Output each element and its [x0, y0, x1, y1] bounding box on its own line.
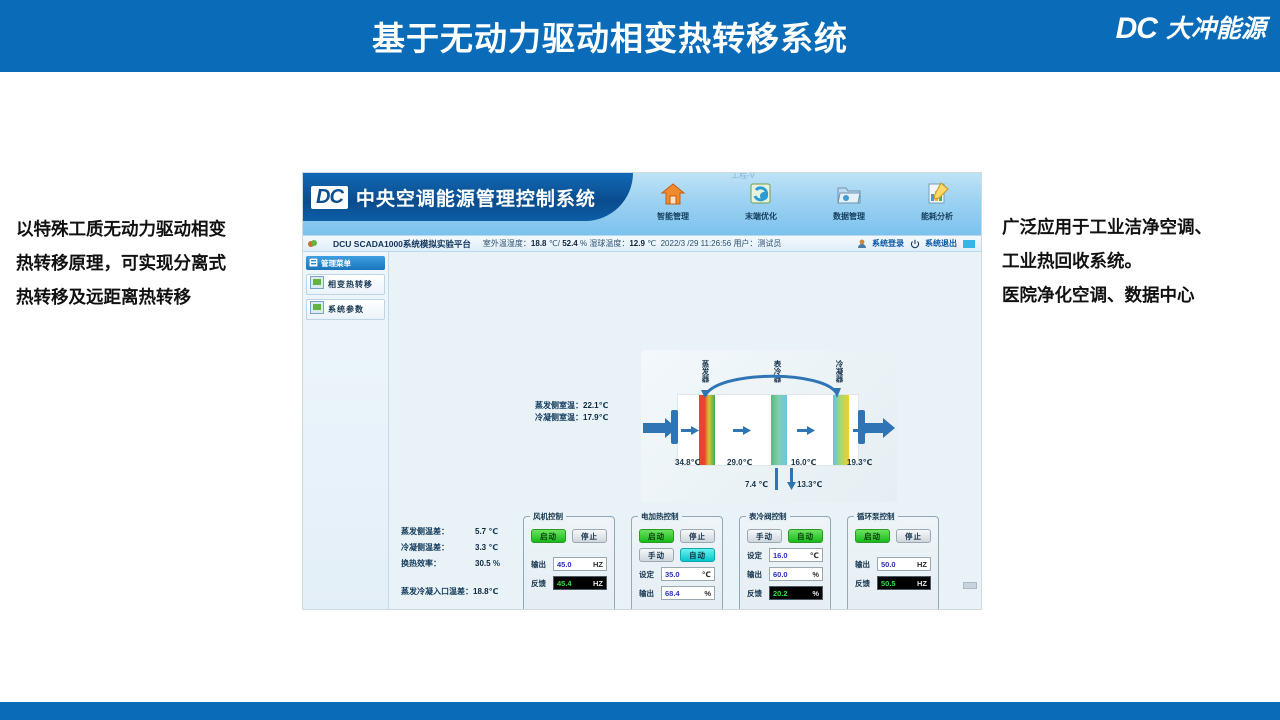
outdoor-humidity-unit: % — [580, 239, 587, 248]
field-label: 反馈 — [855, 578, 873, 589]
condenser-room-temp: 冷凝侧室温：17.9℃ — [535, 412, 608, 424]
heater-setpoint-field: 设定 35.0 ℃ — [639, 567, 715, 581]
sidebar-item-phase-change-heat-transfer[interactable]: 相变热转移 — [306, 274, 385, 295]
flow-arrow-icon — [733, 422, 751, 431]
nav-label: 数据管理 — [811, 211, 887, 222]
water-return-arrow-icon — [787, 468, 796, 495]
field-unit: ℃ — [810, 551, 819, 560]
status-actions: 系统登录 系统退出 — [857, 238, 975, 249]
stat-condenser-delta: 冷凝侧温差：3.3 ℃ — [401, 540, 500, 556]
field-label: 设定 — [747, 550, 765, 561]
panel-cooling-valve-control: 表冷阀控制 手动 自动 设定 16.0 ℃ 输出 — [739, 516, 831, 610]
status-indicator — [963, 240, 975, 248]
app-body: 管理菜单 相变热转移 系统参数 蒸发侧室温：22.1℃ — [303, 252, 981, 610]
nav-item-smart-management[interactable]: 智能管理 — [635, 175, 711, 222]
wetbulb-value: 12.9 — [629, 239, 645, 248]
caption-left-line-2: 热转移原理，可实现分离式 — [16, 246, 226, 280]
panel-title: 表冷阀控制 — [746, 511, 790, 522]
cooling-coil — [771, 395, 787, 465]
water-temp-supply: 7.4 ℃ — [745, 480, 768, 489]
outdoor-label: 室外温湿度： — [483, 239, 531, 248]
heater-start-button[interactable]: 启动 — [639, 529, 674, 543]
chart-report-icon — [899, 179, 975, 209]
stat-unit: ℃ — [488, 543, 498, 552]
valve-manual-button[interactable]: 手动 — [747, 529, 782, 543]
flow-arrow-icon — [853, 422, 871, 431]
nav-item-energy-analysis[interactable]: 能耗分析 — [899, 175, 975, 222]
flow-arrow-icon — [797, 422, 815, 431]
pump-feedback-value-box: 50.5 HZ — [877, 576, 931, 590]
sidebar-item-label: 系统参数 — [328, 304, 364, 315]
pump-start-button[interactable]: 启动 — [855, 529, 890, 543]
pump-output-field: 输出 50.0 HZ — [855, 557, 931, 571]
slide-header: 基于无动力驱动相变热转移系统 DC 大冲能源 — [0, 0, 1280, 72]
water-temp-return: 13.3℃ — [797, 480, 822, 489]
field-label: 输出 — [639, 588, 657, 599]
fan-output-field: 输出 45.0 HZ — [531, 557, 607, 571]
valve-feedback-field: 反馈 20.2 % — [747, 586, 823, 600]
caption-left: 以特殊工质无动力驱动相变 热转移原理，可实现分离式 热转移及远距离热转移 — [16, 212, 226, 314]
water-supply-pipe — [775, 468, 778, 490]
menu-icon — [309, 258, 318, 269]
module-icon — [310, 301, 324, 319]
platform-title: DCU SCADA1000系统模拟实验平台 — [333, 238, 471, 250]
caption-right-line-1: 广泛应用于工业洁净空调、 — [1002, 210, 1212, 244]
scada-screenshot: 工程-V DC 中央空调能源管理控制系统 智能管理 — [302, 172, 982, 610]
condenser-room-temp-label: 冷凝侧室温： — [535, 413, 583, 422]
stat-value: 30.5 — [475, 559, 491, 568]
app-sidebar: 管理菜单 相变热转移 系统参数 — [303, 252, 389, 610]
panel-title: 风机控制 — [530, 511, 566, 522]
panel-circulation-pump-control: 循环泵控制 启动 停止 输出 50.0 HZ 反馈 — [847, 516, 939, 610]
field-value: 20.2 — [773, 589, 788, 598]
app-brand-mark: DC — [311, 186, 348, 209]
wetbulb-unit: ℃ — [647, 239, 656, 248]
stat-label: 蒸发冷凝入口温差： — [401, 587, 473, 596]
heater-stop-button[interactable]: 停止 — [680, 529, 715, 543]
condenser-room-temp-value: 17.9 — [583, 413, 599, 422]
fan-stop-button[interactable]: 停止 — [572, 529, 607, 543]
datetime: 2022/3 /29 11:26:56 — [661, 239, 732, 248]
field-value: 35.0 — [665, 570, 680, 579]
field-unit: ℃ — [702, 570, 711, 579]
leaf-icon — [308, 239, 317, 248]
fan-output-value-box[interactable]: 45.0 HZ — [553, 557, 607, 571]
panel-button-row: 启动 停止 — [531, 529, 607, 543]
nav-item-terminal-optimization[interactable]: 末端优化 — [723, 175, 799, 222]
evaporator-room-temp: 蒸发侧室温：22.1℃ — [535, 400, 608, 412]
field-label: 反馈 — [531, 578, 549, 589]
heater-auto-button[interactable]: 自动 — [680, 548, 715, 562]
caption-right-line-3: 医院净化空调、数据中心 — [1002, 278, 1212, 312]
field-label: 输出 — [855, 559, 873, 570]
field-label: 输出 — [747, 569, 765, 580]
fan-feedback-field: 反馈 45.4 HZ — [531, 576, 607, 590]
valve-setpoint-value-box[interactable]: 16.0 ℃ — [769, 548, 823, 562]
field-value: 45.0 — [557, 560, 572, 569]
power-icon — [910, 239, 919, 248]
heater-output-value-box[interactable]: 68.4 % — [661, 586, 715, 600]
stat-label: 蒸发侧温差： — [401, 524, 475, 540]
panel-button-row: 启动 停止 — [639, 529, 715, 543]
stat-inlet-delta: 蒸发冷凝入口温差：18.8℃ — [401, 584, 500, 600]
sidebar-item-label: 相变热转移 — [328, 279, 373, 290]
fan-start-button[interactable]: 启动 — [531, 529, 566, 543]
evaporator-room-temp-label: 蒸发侧室温： — [535, 401, 583, 410]
sidebar-header-label: 管理菜单 — [321, 258, 351, 269]
refrigerant-loop-arc — [697, 368, 847, 403]
system-login-link[interactable]: 系统登录 — [872, 238, 904, 249]
sidebar-header: 管理菜单 — [306, 256, 385, 270]
outdoor-conditions: 室外温湿度：18.8 ℃/ 52.4 % 湿球温度：12.9 ℃ 2022/3 … — [483, 238, 782, 249]
stat-label: 换热效率： — [401, 556, 475, 572]
field-unit: % — [812, 570, 819, 579]
evaporator-coil — [699, 395, 715, 465]
wetbulb-label: 湿球温度： — [589, 239, 629, 248]
panel-button-row: 启动 停止 — [855, 529, 931, 543]
performance-stats: 蒸发侧温差：5.7 ℃ 冷凝侧温差：3.3 ℃ 换热效率：30.5 % 蒸发冷凝… — [401, 524, 500, 600]
stat-value: 3.3 — [475, 543, 486, 552]
caption-right: 广泛应用于工业洁净空调、 工业热回收系统。 医院净化空调、数据中心 — [1002, 210, 1212, 312]
air-temp-2: 29.0℃ — [727, 458, 752, 467]
folder-icon — [811, 179, 887, 209]
heater-output-field: 输出 68.4 % — [639, 586, 715, 600]
stat-heat-exchange-efficiency: 换热效率：30.5 % — [401, 556, 500, 572]
outdoor-temp-unit: ℃/ — [549, 239, 560, 248]
valve-output-value-box[interactable]: 60.0 % — [769, 567, 823, 581]
field-unit: % — [704, 589, 711, 598]
field-label: 输出 — [531, 559, 549, 570]
app-header: 工程-V DC 中央空调能源管理控制系统 智能管理 — [303, 173, 981, 235]
field-unit: HZ — [593, 560, 603, 569]
panel-title: 循环泵控制 — [854, 511, 898, 522]
panel-fan-control: 风机控制 启动 停止 输出 45.0 HZ 反馈 — [523, 516, 615, 610]
pump-feedback-field: 反馈 50.5 HZ — [855, 576, 931, 590]
stat-unit: ℃ — [489, 587, 499, 596]
field-unit: % — [812, 589, 819, 598]
air-temp-1: 34.8℃ — [675, 458, 700, 467]
user-icon — [857, 239, 866, 248]
sidebar-item-system-parameters[interactable]: 系统参数 — [306, 299, 385, 320]
field-value: 60.0 — [773, 570, 788, 579]
page-title: 基于无动力驱动相变热转移系统 — [372, 12, 848, 60]
app-brand-block: DC 中央空调能源管理控制系统 — [303, 173, 633, 221]
heater-setpoint-value-box[interactable]: 35.0 ℃ — [661, 567, 715, 581]
stat-unit: % — [493, 559, 500, 568]
inlet-damper — [671, 410, 678, 444]
brand-logo-text: 大冲能源 — [1166, 17, 1266, 42]
app-name: 中央空调能源管理控制系统 — [356, 184, 596, 211]
evaporator-room-temp-unit: ℃ — [599, 401, 609, 410]
outdoor-temp-value: 18.8 — [531, 239, 547, 248]
brand-logo: DC 大冲能源 — [1116, 14, 1266, 44]
valve-auto-button[interactable]: 自动 — [788, 529, 823, 543]
caption-left-line-3: 热转移及远距离热转移 — [16, 280, 226, 314]
field-value: 68.4 — [665, 589, 680, 598]
air-temp-3: 16.0℃ — [791, 458, 816, 467]
panel-electric-heater-control: 电加热控制 启动 停止 手动 自动 设定 35.0 ℃ — [631, 516, 723, 610]
field-value: 16.0 — [773, 551, 788, 560]
nav-label: 末端优化 — [723, 211, 799, 222]
stat-unit: ℃ — [488, 527, 498, 536]
panel-title: 电加热控制 — [638, 511, 682, 522]
field-unit: HZ — [917, 560, 927, 569]
process-diagram: 蒸发器 表冷器 冷凝器 — [641, 350, 897, 502]
system-logout-link[interactable]: 系统退出 — [925, 238, 957, 249]
field-value: 50.5 — [881, 579, 896, 588]
valve-setpoint-field: 设定 16.0 ℃ — [747, 548, 823, 562]
app-main: 蒸发侧室温：22.1℃ 冷凝侧室温：17.9℃ — [389, 252, 981, 610]
refresh-icon — [723, 179, 799, 209]
condenser-coil — [833, 395, 849, 465]
air-temp-4: 19.3℃ — [847, 458, 872, 467]
condenser-room-temp-unit: ℃ — [599, 413, 609, 422]
nav-item-data-management[interactable]: 数据管理 — [811, 175, 887, 222]
panel-button-row: 手动 自动 — [639, 548, 715, 562]
brand-logo-mark: DC — [1116, 14, 1157, 44]
field-label: 反馈 — [747, 588, 765, 599]
field-value: 45.4 — [557, 579, 572, 588]
slide-footer — [0, 702, 1280, 720]
stat-value: 18.8 — [473, 587, 489, 596]
evaporator-room-temp-value: 22.1 — [583, 401, 599, 410]
flow-arrow-icon — [681, 422, 699, 431]
stat-label: 冷凝侧温差： — [401, 540, 475, 556]
user-label: 用户： — [733, 239, 757, 248]
home-icon — [635, 179, 711, 209]
fan-feedback-value-box: 45.4 HZ — [553, 576, 607, 590]
app-status-bar: DCU SCADA1000系统模拟实验平台 室外温湿度：18.8 ℃/ 52.4… — [303, 235, 981, 252]
pump-stop-button[interactable]: 停止 — [896, 529, 931, 543]
room-temperature-readouts: 蒸发侧室温：22.1℃ 冷凝侧室温：17.9℃ — [535, 400, 608, 424]
field-unit: HZ — [593, 579, 603, 588]
pump-output-value-box[interactable]: 50.0 HZ — [877, 557, 931, 571]
field-unit: HZ — [917, 579, 927, 588]
app-nav: 智能管理 末端优化 — [635, 175, 975, 231]
scrollbar-thumb[interactable] — [963, 582, 977, 589]
module-icon — [310, 276, 324, 294]
stat-value: 5.7 — [475, 527, 486, 536]
field-value: 50.0 — [881, 560, 896, 569]
nav-label: 能耗分析 — [899, 211, 975, 222]
heater-manual-button[interactable]: 手动 — [639, 548, 674, 562]
stat-evaporator-delta: 蒸发侧温差：5.7 ℃ — [401, 524, 500, 540]
caption-left-line-1: 以特殊工质无动力驱动相变 — [16, 212, 226, 246]
panel-button-row: 手动 自动 — [747, 529, 823, 543]
user-name: 测试员 — [757, 239, 781, 248]
field-label: 设定 — [639, 569, 657, 580]
control-panels: 风机控制 启动 停止 输出 45.0 HZ 反馈 — [523, 516, 939, 610]
valve-output-field: 输出 60.0 % — [747, 567, 823, 581]
nav-label: 智能管理 — [635, 211, 711, 222]
valve-feedback-value-box: 20.2 % — [769, 586, 823, 600]
caption-right-line-2: 工业热回收系统。 — [1002, 244, 1212, 278]
outdoor-humidity-value: 52.4 — [562, 239, 578, 248]
